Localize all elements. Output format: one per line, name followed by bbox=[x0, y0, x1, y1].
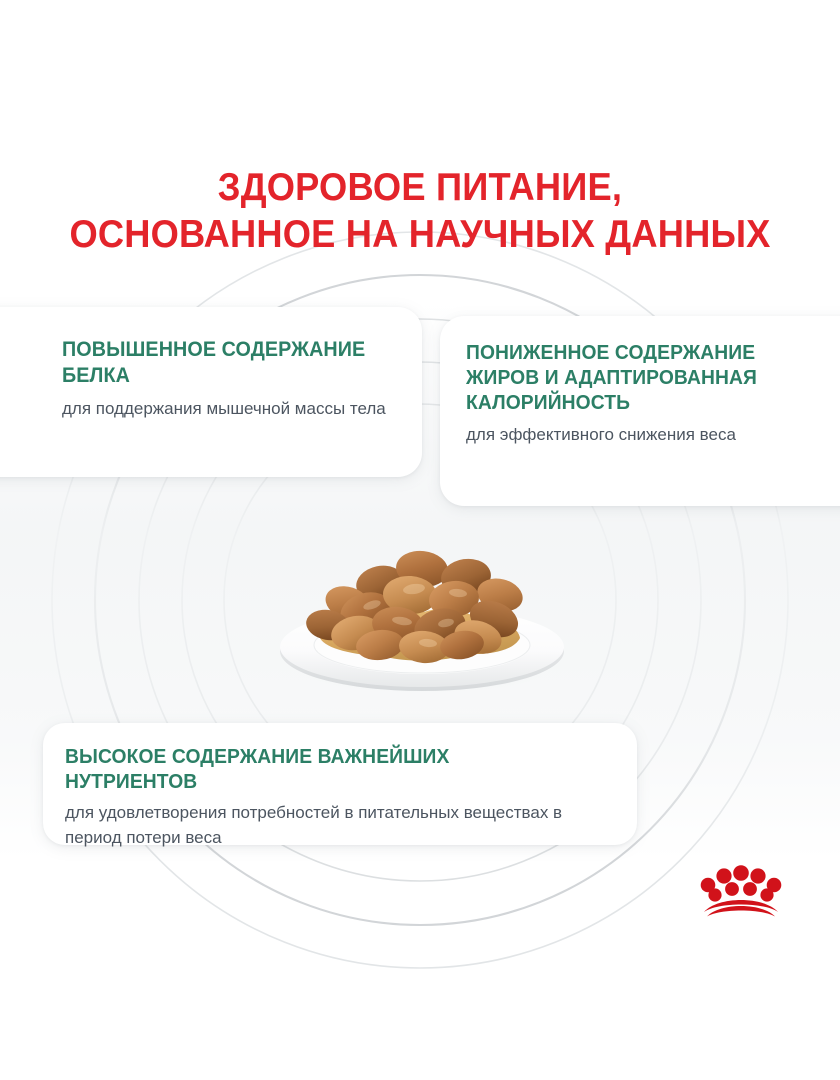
product-image-plate-of-wet-food bbox=[262, 495, 582, 700]
page-title: ЗДОРОВОЕ ПИТАНИЕ, ОСНОВАННОЕ НА НАУЧНЫХ … bbox=[0, 164, 840, 258]
benefit-card-protein-subtext: для поддержания мышечной массы тела bbox=[62, 396, 396, 421]
benefit-card-protein-heading: ПОВЫШЕННОЕ СОДЕРЖАНИЕ БЕЛКА bbox=[62, 337, 376, 389]
promo-poster: ЗДОРОВОЕ ПИТАНИЕ, ОСНОВАННОЕ НА НАУЧНЫХ … bbox=[0, 0, 840, 1080]
benefit-card-nutrients-subtext: для удовлетворения потребностей в питате… bbox=[65, 800, 613, 850]
benefit-card-fat: ПОНИЖЕННОЕ СОДЕРЖАНИЕ ЖИРОВ И АДАПТИРОВА… bbox=[440, 316, 840, 506]
benefit-card-fat-subtext: для эффективного снижения веса bbox=[466, 422, 840, 447]
royal-canin-crown-logo bbox=[700, 862, 782, 920]
title-line-1: ЗДОРОВОЕ ПИТАНИЕ, bbox=[29, 164, 810, 211]
benefit-card-nutrients: ВЫСОКОЕ СОДЕРЖАНИЕ ВАЖНЕЙШИХ НУТРИЕНТОВ … bbox=[43, 723, 637, 845]
title-line-2: ОСНОВАННОЕ НА НАУЧНЫХ ДАННЫХ bbox=[29, 211, 810, 258]
benefit-card-nutrients-heading: ВЫСОКОЕ СОДЕРЖАНИЕ ВАЖНЕЙШИХ НУТРИЕНТОВ bbox=[65, 744, 580, 794]
benefit-card-fat-heading: ПОНИЖЕННОЕ СОДЕРЖАНИЕ ЖИРОВ И АДАПТИРОВА… bbox=[466, 340, 821, 415]
benefit-card-protein: ПОВЫШЕННОЕ СОДЕРЖАНИЕ БЕЛКА для поддержа… bbox=[0, 307, 422, 477]
